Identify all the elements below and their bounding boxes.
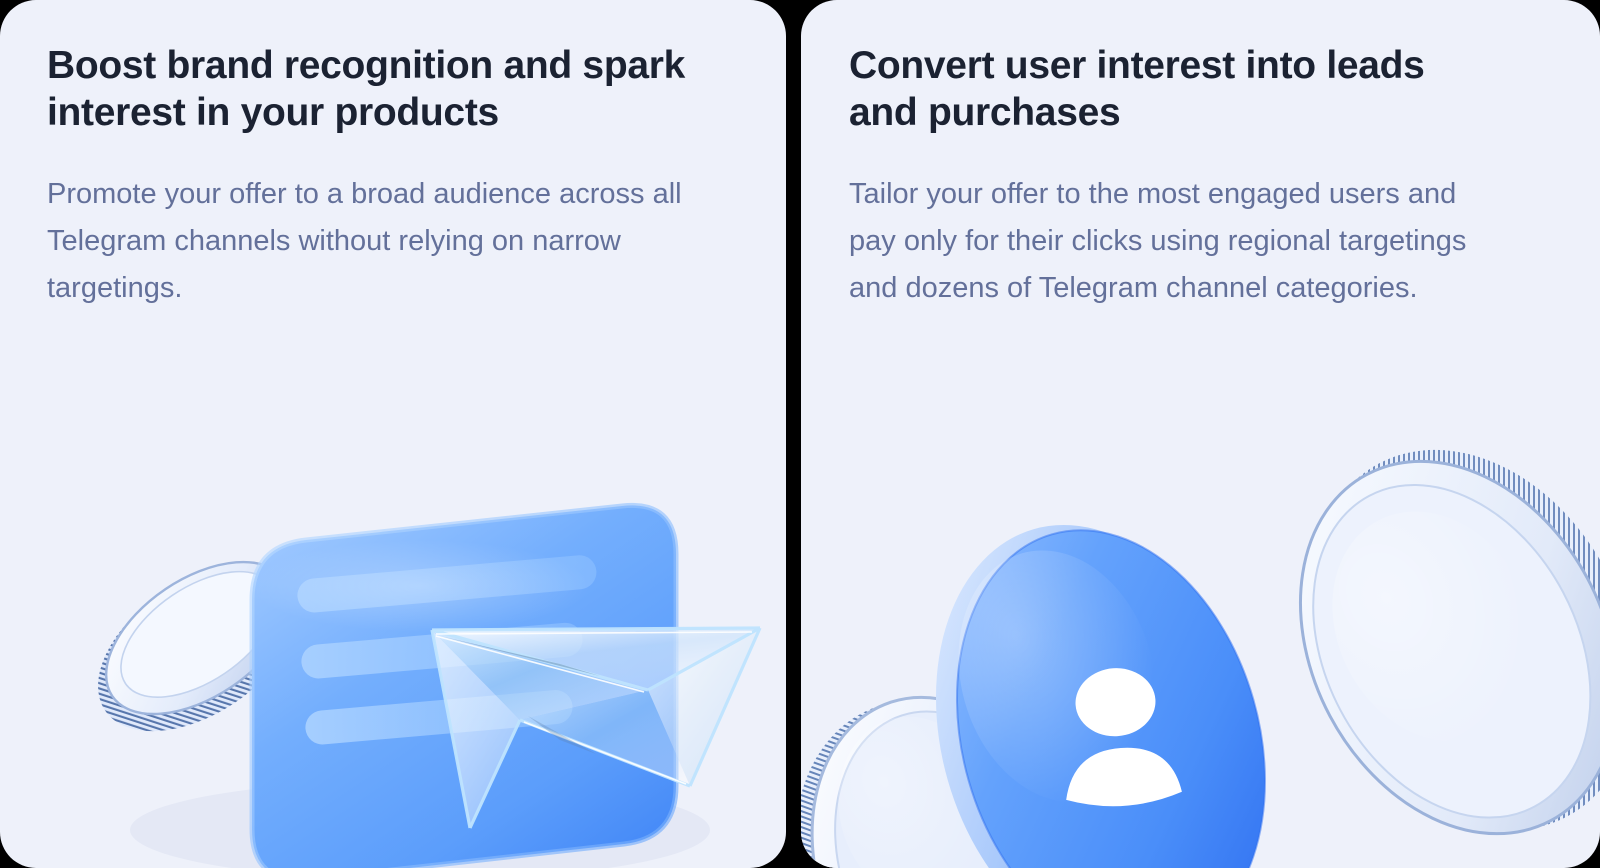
coin-silver-back-icon <box>1236 393 1600 868</box>
benefit-card-brand-recognition: Boost brand recognition and spark intere… <box>0 0 786 868</box>
chat-line-1 <box>296 554 598 614</box>
user-glyph <box>1057 664 1182 810</box>
card-text-block: Convert user interest into leads and pur… <box>801 0 1600 312</box>
benefit-card-convert-leads: Convert user interest into leads and pur… <box>801 0 1600 868</box>
coin-ribbed-icon <box>68 530 328 766</box>
card-text-block: Boost brand recognition and spark intere… <box>0 0 786 312</box>
glass-paper-plane-icon <box>432 628 760 828</box>
chat-bubble-icon <box>250 505 676 868</box>
coin-blue-user-icon <box>888 484 1312 868</box>
chat-line-2 <box>300 621 584 679</box>
chat-line-3 <box>304 689 574 746</box>
coin-silver-front-icon <box>801 663 1117 868</box>
card-description: Promote your offer to a broad audience a… <box>47 136 717 312</box>
card-title: Boost brand recognition and spark intere… <box>47 42 687 136</box>
card-title: Convert user interest into leads and pur… <box>849 42 1469 136</box>
card-description: Tailor your offer to the most engaged us… <box>849 136 1509 312</box>
benefit-cards-board: Boost brand recognition and spark intere… <box>0 0 1600 868</box>
